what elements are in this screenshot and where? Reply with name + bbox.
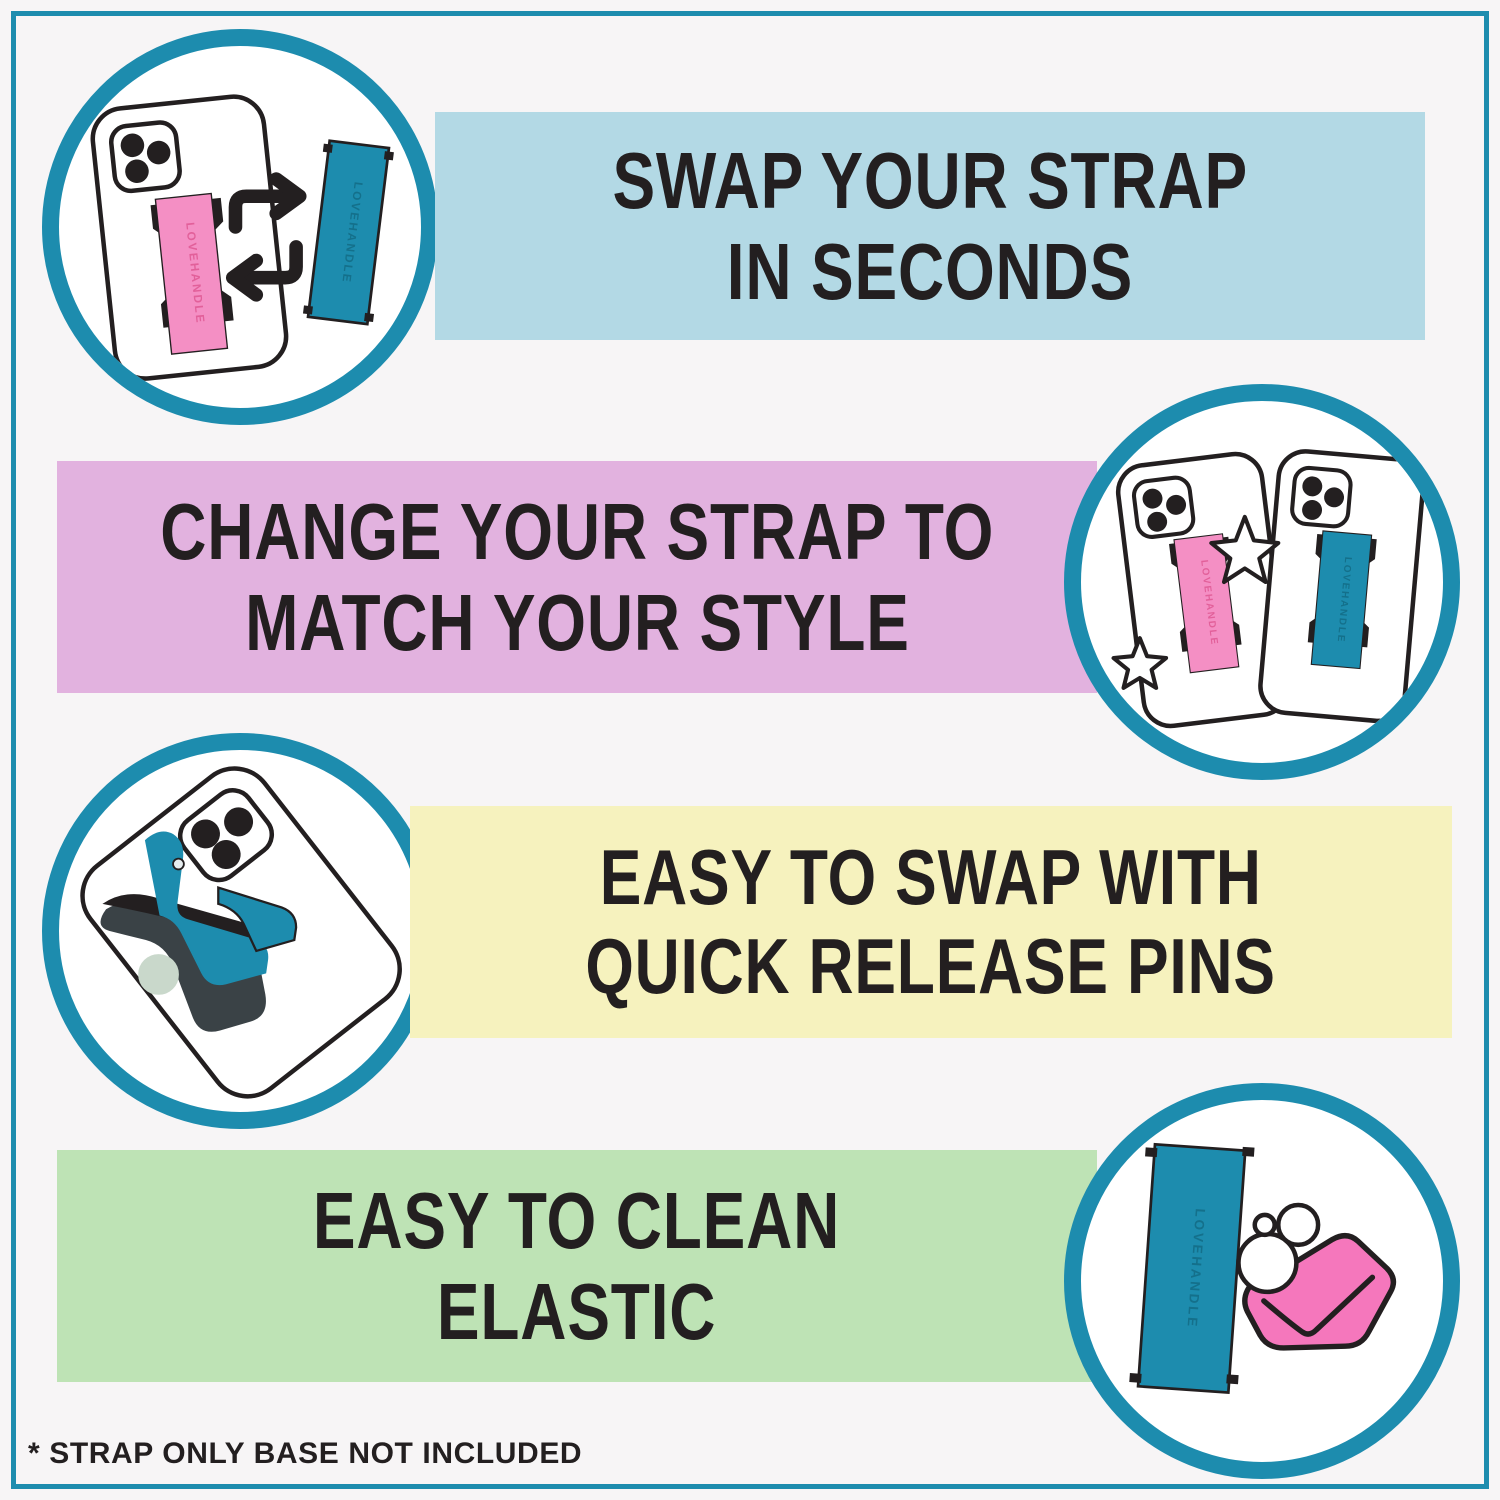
banner-line: SWAP YOUR STRAP xyxy=(612,135,1248,226)
phone-strap-swap-arrows-icon: LOVEHANDLE LOVEHANDLE xyxy=(59,46,421,408)
strap-with-soap-bar-and-bubbles-icon: LOVEHANDLE xyxy=(1081,1100,1443,1462)
banner-match-your-style: CHANGE YOUR STRAP TO MATCH YOUR STYLE xyxy=(57,461,1097,693)
banner-line: EASY TO CLEAN xyxy=(313,1175,840,1266)
banner-line: EASY TO SWAP WITH xyxy=(600,833,1262,922)
banner-line: IN SECONDS xyxy=(727,226,1133,317)
feature-icon-swap-in-seconds: LOVEHANDLE LOVEHANDLE xyxy=(42,29,438,425)
banner-line: CHANGE YOUR STRAP TO xyxy=(160,486,994,577)
banner-quick-release-pins: EASY TO SWAP WITH QUICK RELEASE PINS xyxy=(410,806,1452,1038)
banner-line: QUICK RELEASE PINS xyxy=(586,922,1277,1011)
banner-line: MATCH YOUR STYLE xyxy=(245,577,910,668)
banner-swap-in-seconds: SWAP YOUR STRAP IN SECONDS xyxy=(435,112,1425,340)
banner-easy-to-clean: EASY TO CLEAN ELASTIC xyxy=(57,1150,1097,1382)
footnote-strap-only-disclaimer: * STRAP ONLY BASE NOT INCLUDED xyxy=(28,1437,582,1471)
feature-icon-match-your-style: LOVEHANDLE LOVEHANDLE xyxy=(1064,384,1460,780)
banner-line: ELASTIC xyxy=(437,1266,716,1357)
feature-icon-quick-release-pins xyxy=(42,733,438,1129)
infographic-page: LOVEHANDLE LOVEHANDLE SWAP YOUR STRAP IN xyxy=(0,0,1500,1500)
two-phones-with-straps-and-stars-icon: LOVEHANDLE LOVEHANDLE xyxy=(1081,401,1443,763)
strap-release-from-phone-base-icon xyxy=(59,750,421,1112)
feature-icon-easy-to-clean: LOVEHANDLE xyxy=(1064,1083,1460,1479)
